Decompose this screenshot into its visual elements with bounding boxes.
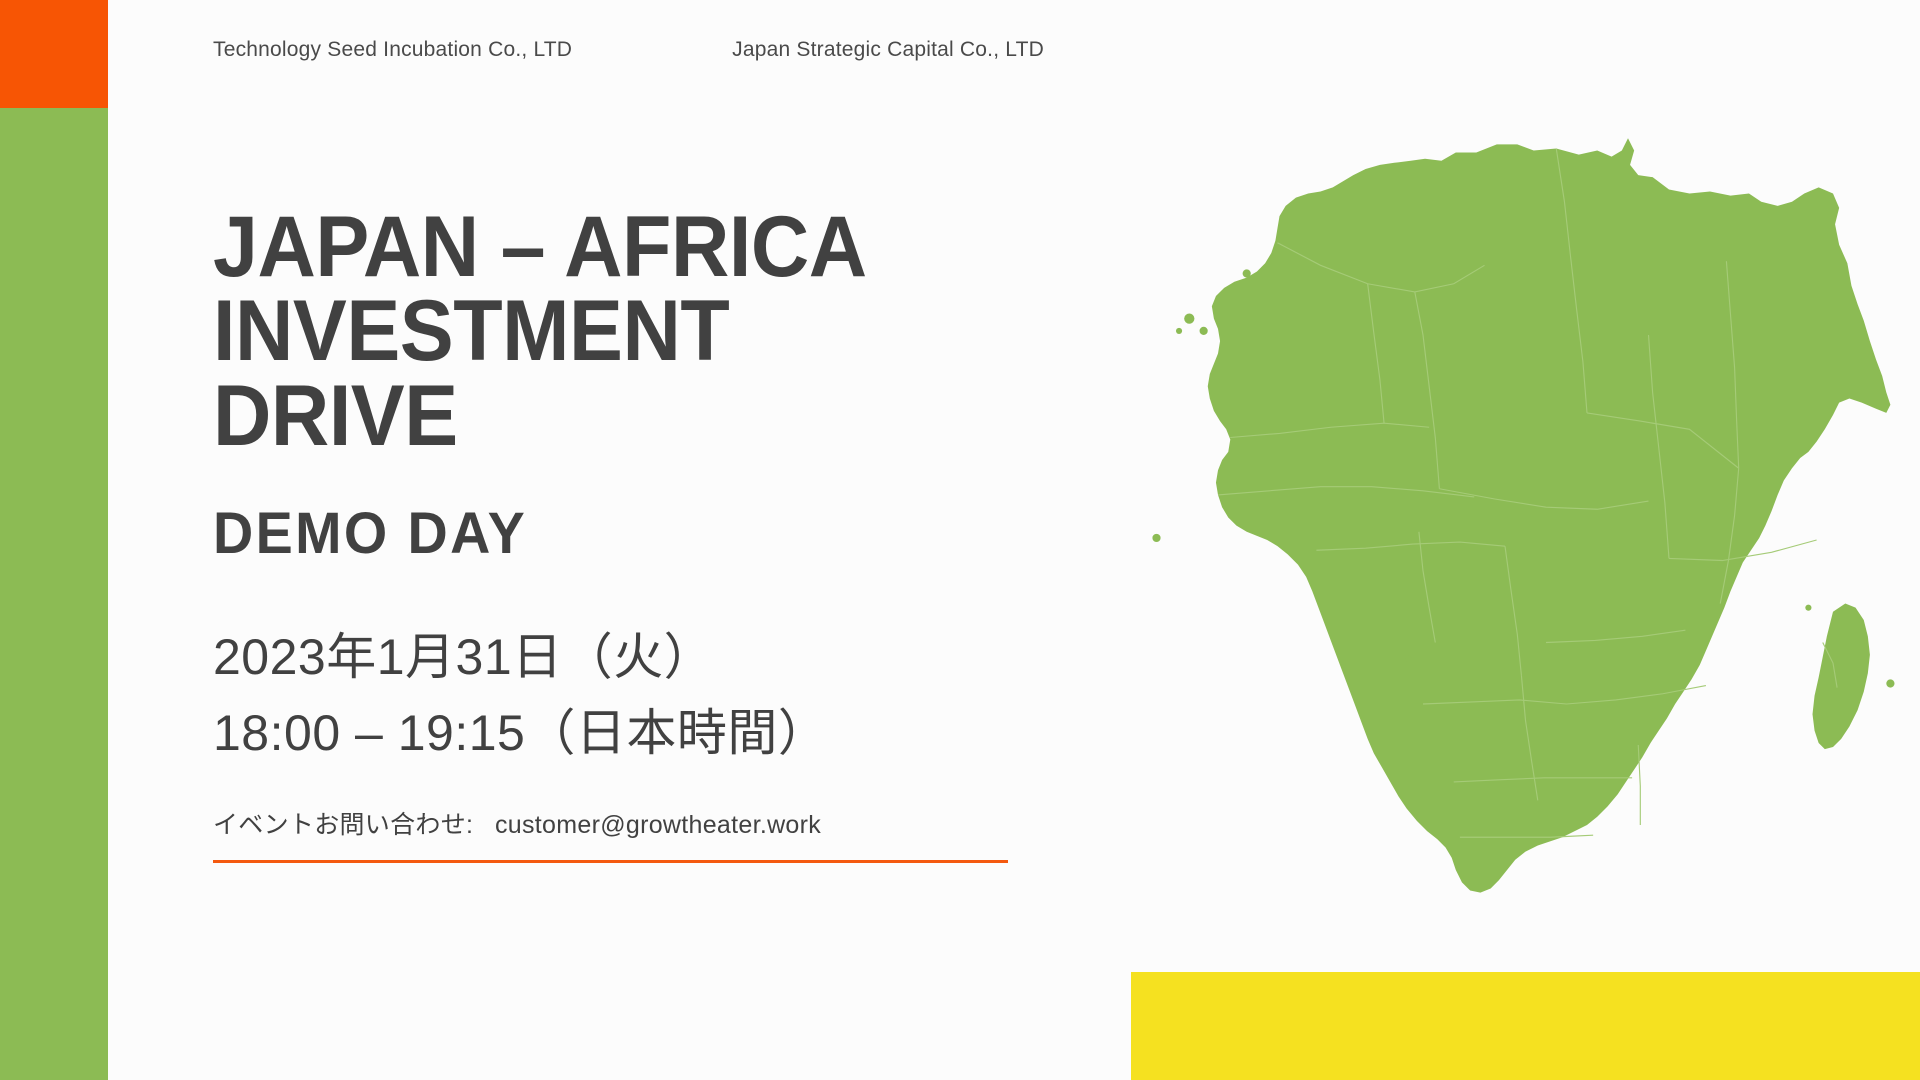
company-name-right: Japan Strategic Capital Co., LTD: [732, 38, 1044, 62]
presentation-slide: Technology Seed Incubation Co., LTD Japa…: [0, 0, 1920, 1080]
contact-email[interactable]: customer@growtheater.work: [495, 811, 821, 839]
event-time: 18:00 – 19:15（日本時間）: [213, 695, 1033, 771]
bottom-right-accent-block-yellow: [1131, 972, 1920, 1080]
africa-mainland-shape: [1208, 138, 1891, 892]
island-dot-atlantic: [1152, 534, 1160, 542]
africa-map: [1110, 130, 1900, 950]
island-dot-gulf-guinea: [1406, 656, 1412, 662]
island-dot-mauritius: [1886, 679, 1894, 687]
island-dot-canary: [1243, 269, 1251, 277]
left-accent-bar-orange: [0, 0, 108, 108]
africa-landmass-group: [1152, 138, 1894, 892]
event-date: 2023年1月31日（火）: [213, 619, 1033, 695]
contact-line: イベントお問い合わせ: customer@growtheater.work: [213, 805, 1033, 841]
contact-label: イベントお問い合わせ:: [213, 811, 473, 839]
island-dot-cape-verde-3: [1176, 328, 1182, 334]
island-dot-cape-verde-1: [1184, 313, 1194, 323]
orange-divider-rule: [213, 860, 1008, 863]
left-accent-bar-green: [0, 108, 108, 1080]
page-title: JAPAN – AFRICA INVESTMENT DRIVE: [213, 205, 984, 458]
main-content: JAPAN – AFRICA INVESTMENT DRIVE DEMO DAY…: [213, 205, 1033, 863]
madagascar-shape: [1813, 604, 1870, 750]
event-datetime: 2023年1月31日（火） 18:00 – 19:15（日本時間）: [213, 619, 1033, 771]
company-name-left: Technology Seed Incubation Co., LTD: [213, 38, 572, 62]
island-dot-cape-verde-2: [1200, 327, 1208, 335]
island-dot-comoros: [1805, 605, 1811, 611]
header-company-row: Technology Seed Incubation Co., LTD Japa…: [213, 38, 1044, 62]
page-subtitle: DEMO DAY: [213, 500, 1000, 567]
